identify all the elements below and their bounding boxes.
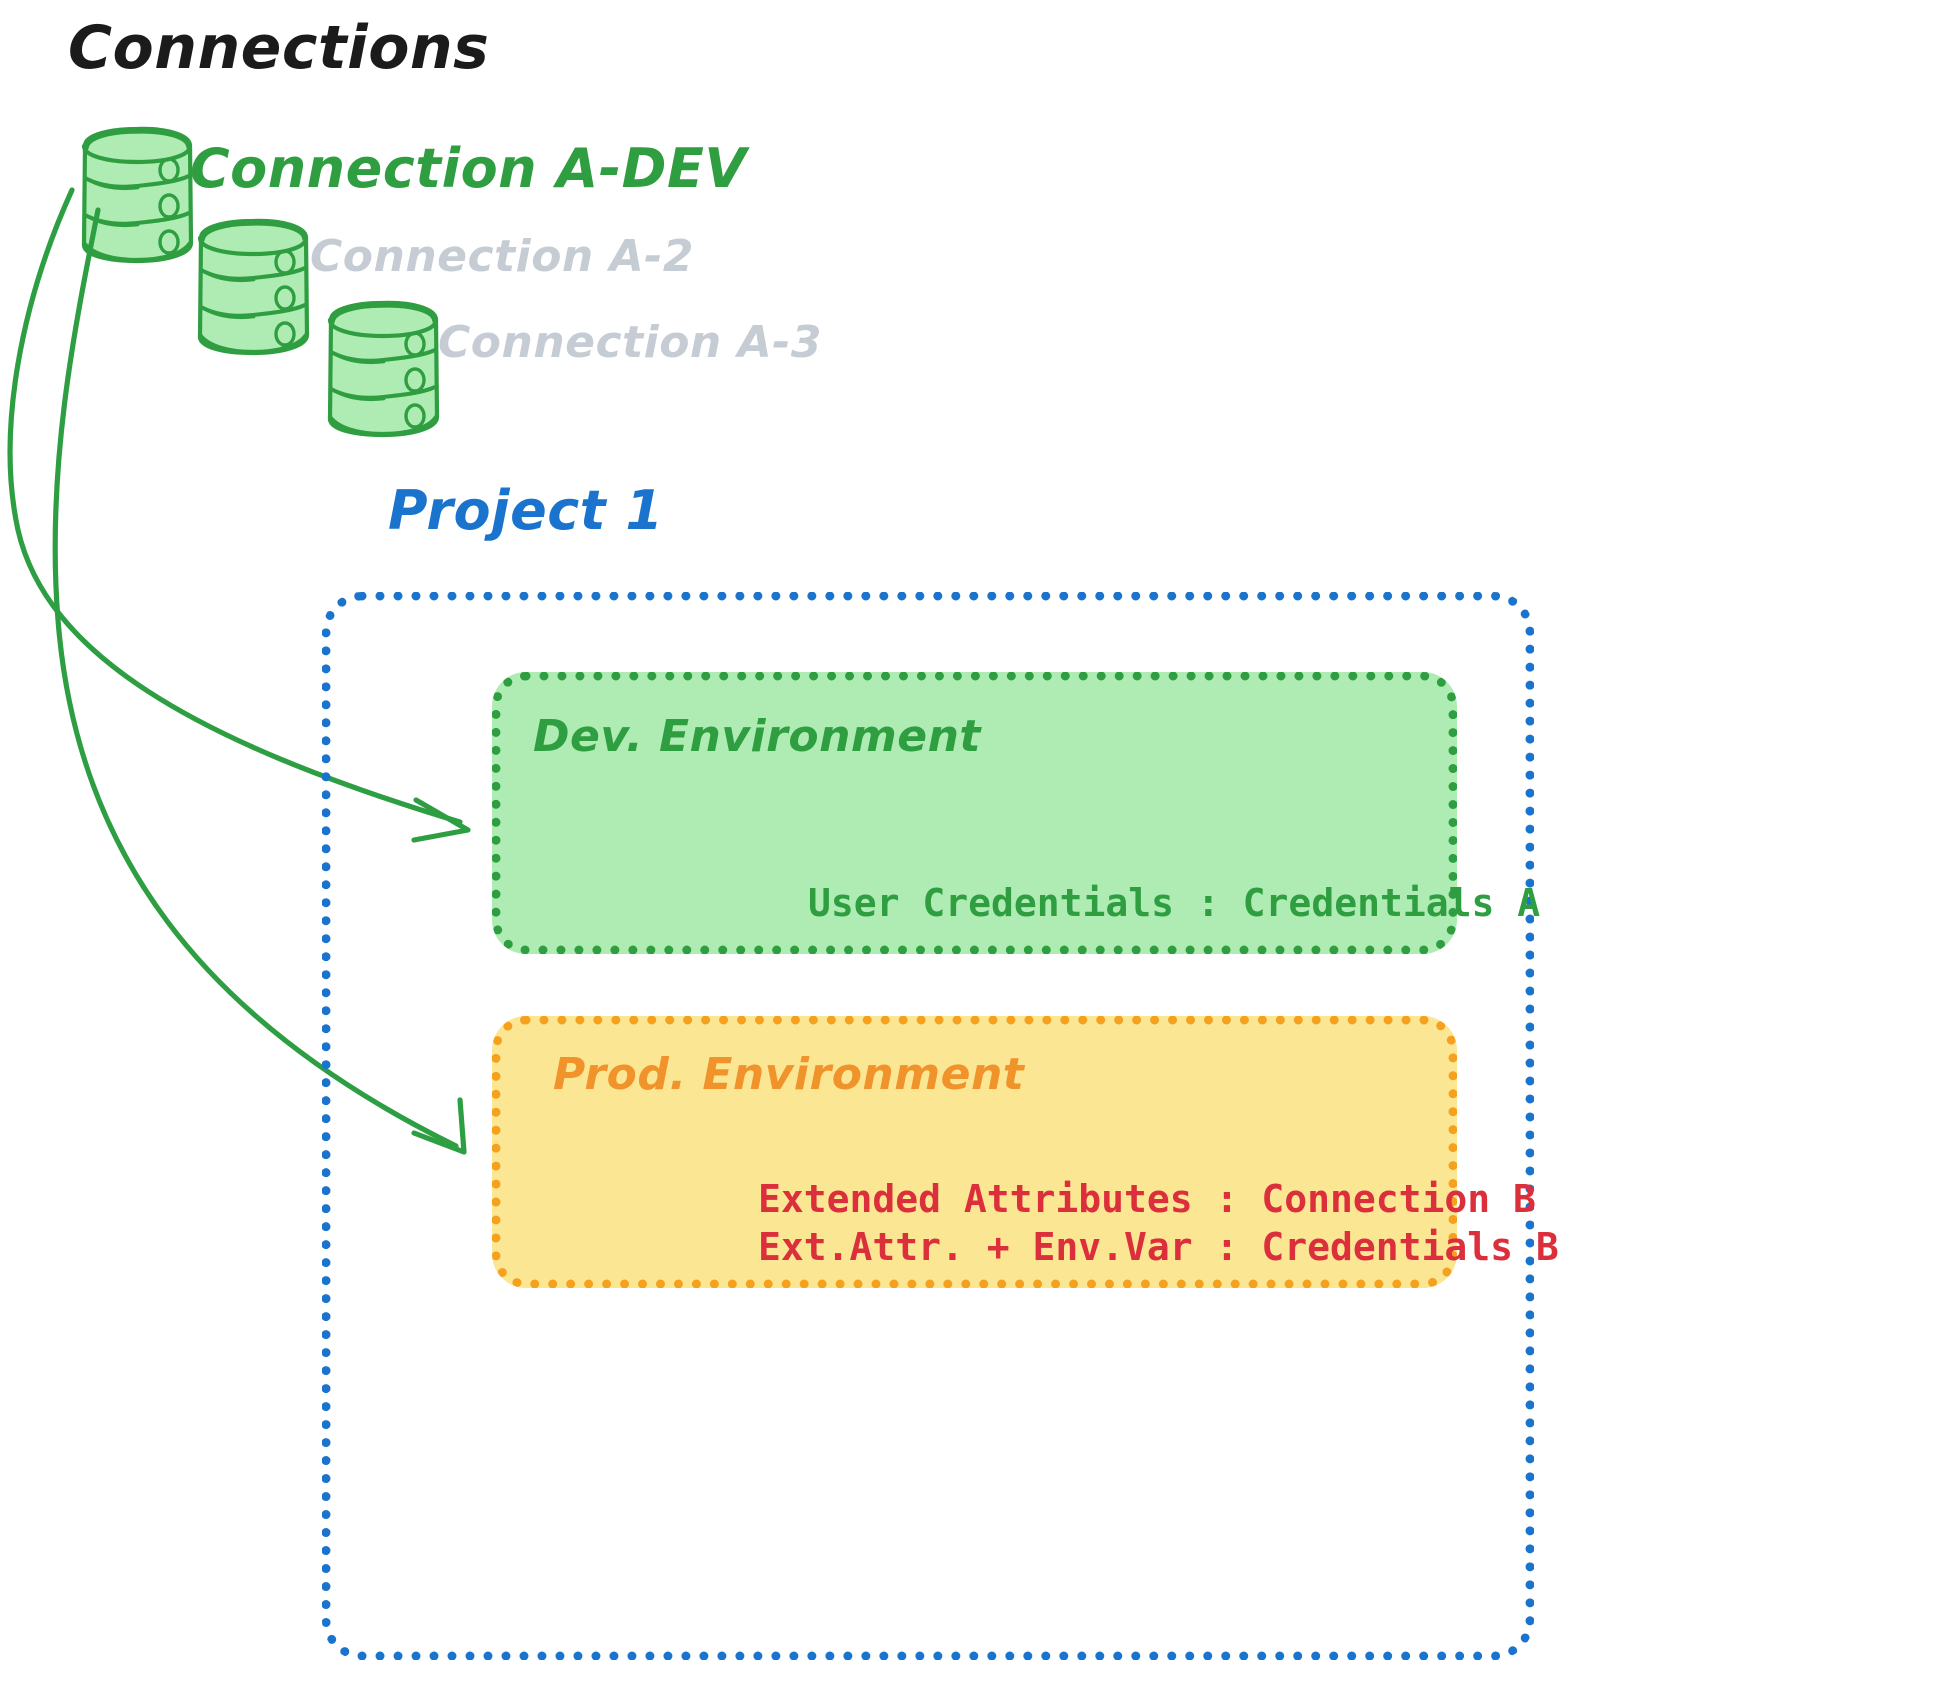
dev-user-credentials-row: User Credentials : Credentials A bbox=[808, 882, 1540, 926]
prod-ext-attr-env-var-row: Ext.Attr. + Env.Var : Credentials B bbox=[758, 1226, 1559, 1270]
project-title: Project 1 bbox=[388, 480, 663, 542]
page-title: Connections bbox=[68, 14, 489, 83]
prod-extended-attributes-row: Extended Attributes : Connection B bbox=[758, 1178, 1536, 1222]
database-cylinder-icon-a-dev[interactable] bbox=[84, 129, 191, 261]
database-cylinder-icon-a-2[interactable] bbox=[200, 221, 307, 353]
connection-label-a-3[interactable]: Connection A-3 bbox=[438, 318, 822, 369]
dev-environment-title: Dev. Environment bbox=[533, 712, 981, 763]
connection-label-a-2[interactable]: Connection A-2 bbox=[310, 232, 694, 283]
database-cylinder-icon-a-3[interactable] bbox=[330, 303, 437, 435]
diagram-canvas: Connections Connection A-DEV Connection … bbox=[0, 0, 1938, 1691]
prod-environment-title: Prod. Environment bbox=[553, 1050, 1024, 1101]
connection-label-a-dev[interactable]: Connection A-DEV bbox=[190, 138, 747, 200]
